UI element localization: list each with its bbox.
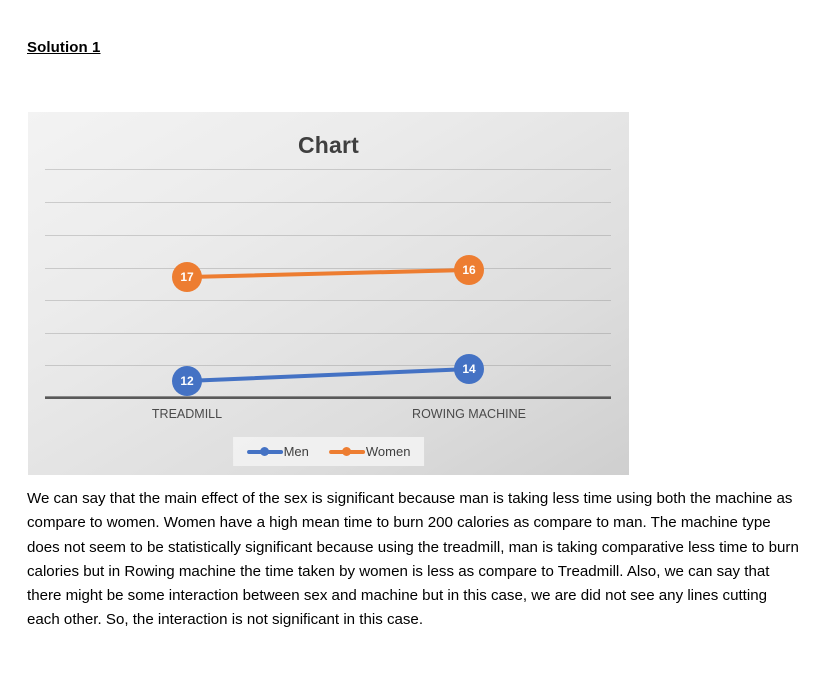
gridline (45, 365, 611, 366)
legend-label-men: Men (284, 444, 309, 459)
series-line-men (187, 367, 469, 383)
legend-swatch-women-icon (329, 450, 365, 454)
chart-container: Chart 17 16 12 14 TREADMILL ROWING MACHI… (28, 112, 629, 475)
legend-item-women[interactable]: Women (329, 444, 411, 459)
gridline (45, 235, 611, 236)
data-point-men-rowing-machine[interactable]: 14 (454, 354, 484, 384)
series-line-women (187, 268, 469, 279)
x-axis-label-treadmill: TREADMILL (152, 407, 222, 421)
gridline (45, 300, 611, 301)
data-point-women-treadmill[interactable]: 17 (172, 262, 202, 292)
legend-item-men[interactable]: Men (247, 444, 309, 459)
chart-legend: Men Women (233, 437, 425, 466)
gridline (45, 268, 611, 269)
gridline (45, 202, 611, 203)
legend-label-women: Women (366, 444, 411, 459)
chart-title: Chart (28, 132, 629, 159)
data-point-women-rowing-machine[interactable]: 16 (454, 255, 484, 285)
plot-area: 17 16 12 14 (45, 169, 611, 397)
gridline (45, 333, 611, 334)
analysis-paragraph: We can say that the main effect of the s… (27, 487, 802, 633)
data-point-men-treadmill[interactable]: 12 (172, 366, 202, 396)
x-axis-label-rowing-machine: ROWING MACHINE (412, 407, 526, 421)
page-title: Solution 1 (27, 39, 101, 56)
x-axis-line (45, 396, 611, 399)
legend-swatch-men-icon (247, 450, 283, 454)
gridline (45, 169, 611, 170)
